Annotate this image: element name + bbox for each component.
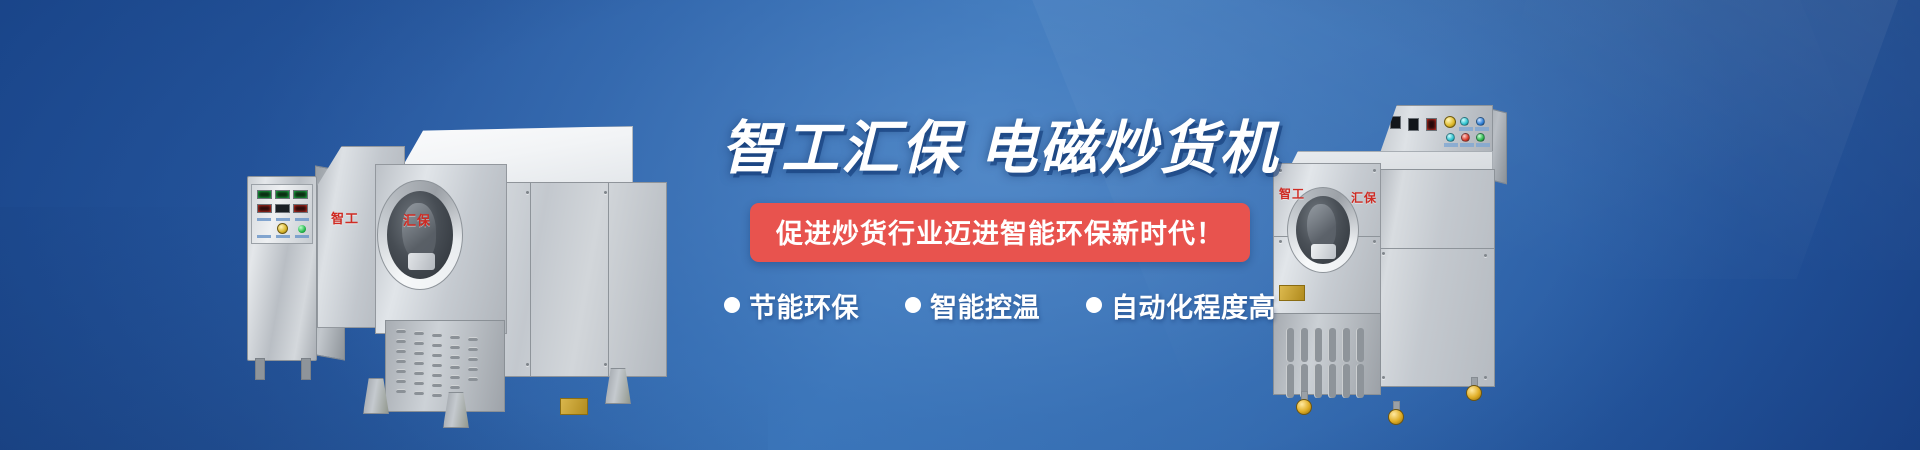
panel-screw — [1373, 240, 1376, 243]
panel-label-strip — [1444, 143, 1458, 147]
panel-label-strip — [295, 235, 309, 238]
panel-screw — [526, 363, 529, 366]
subhead-row: 促进炒货行业迈进智能环保新时代！ — [700, 203, 1300, 262]
roaster-cabinet-body — [1375, 169, 1495, 387]
spec-nameplate — [560, 398, 588, 415]
filled-circle-bullet-icon — [724, 297, 740, 313]
display-readout — [1408, 118, 1419, 131]
display-readout — [293, 204, 308, 213]
feature-label: 节能环保 — [749, 286, 859, 325]
roaster-drum-opening — [377, 180, 463, 290]
panel-label-strip — [276, 218, 290, 221]
filled-circle-bullet-icon — [905, 297, 921, 313]
panel-label-strip — [257, 235, 271, 238]
control-panel — [251, 184, 313, 244]
brand-mark-left: 智工 — [331, 208, 359, 227]
brand-mark-right: 汇保 — [1351, 189, 1377, 206]
promo-banner: 许昌智工 — [0, 0, 1920, 450]
panel-screw — [526, 191, 529, 194]
cabinet-door-seam — [530, 183, 531, 376]
panel-screw — [1373, 169, 1376, 172]
panel-label-strip — [276, 235, 290, 238]
display-readout — [293, 190, 308, 199]
panel-label-strip — [1460, 143, 1474, 147]
display-readout — [275, 190, 290, 199]
caster-wheel — [1388, 409, 1404, 425]
brand-mark-right: 汇保 — [403, 210, 431, 229]
feature-label: 自动化程度高 — [1111, 286, 1276, 325]
rotary-knob[interactable] — [1444, 116, 1456, 128]
roaster-vent-skirt — [385, 320, 505, 412]
rotary-knob[interactable] — [277, 223, 288, 234]
cabinet-seam — [1376, 248, 1494, 249]
tagline-badge: 促进炒货行业迈进智能环保新时代！ — [750, 203, 1250, 262]
control-button[interactable] — [1446, 133, 1455, 142]
feature-item: 自动化程度高 — [1086, 286, 1276, 325]
product-image-roaster-large: 许昌智工 — [225, 120, 685, 425]
control-panel — [1363, 105, 1493, 157]
control-button[interactable] — [1461, 133, 1470, 142]
display-readout — [257, 190, 272, 199]
display-readout — [275, 204, 290, 213]
panel-screw — [604, 191, 607, 194]
display-readout — [257, 204, 272, 213]
panel-screw — [1382, 252, 1385, 255]
feature-item: 节能环保 — [724, 286, 859, 325]
cabinet-foot — [255, 358, 265, 380]
roaster-vent-skirt — [1273, 313, 1381, 395]
caster-wheel — [1466, 385, 1482, 401]
drum-interior — [387, 191, 453, 279]
control-button[interactable] — [1476, 117, 1485, 126]
feature-list: 节能环保 智能控温 自动化程度高 — [700, 286, 1300, 325]
drum-contents — [408, 253, 434, 271]
panel-screw — [1382, 376, 1385, 379]
banner-text-block: 智工汇保 电磁炒货机 促进炒货行业迈进智能环保新时代！ 节能环保 智能控温 自动… — [700, 118, 1300, 325]
panel-label-strip — [257, 218, 271, 221]
display-readout — [1390, 116, 1401, 129]
control-button[interactable] — [1476, 133, 1485, 142]
caster-wheel — [1296, 399, 1312, 415]
panel-screw — [1484, 376, 1487, 379]
panel-label-strip — [1475, 127, 1489, 131]
display-readout — [1426, 118, 1437, 131]
filled-circle-bullet-icon — [1086, 297, 1102, 313]
panel-label-strip — [1476, 143, 1490, 147]
indicator-led — [298, 225, 306, 233]
product-image-roaster-compact: 智工 汇保 — [1265, 105, 1595, 430]
panel-label-strip — [1459, 127, 1473, 131]
panel-screw — [604, 363, 607, 366]
cabinet-door-seam — [608, 183, 609, 376]
page-title: 智工汇保 电磁炒货机 — [700, 118, 1300, 181]
drum-contents — [1311, 244, 1336, 259]
control-button[interactable] — [1460, 117, 1469, 126]
feature-label: 智能控温 — [930, 286, 1040, 325]
feature-item: 智能控温 — [905, 286, 1040, 325]
drum-interior — [1296, 196, 1350, 264]
panel-screw — [1484, 254, 1487, 257]
cabinet-foot — [301, 358, 311, 380]
panel-label-strip — [295, 218, 309, 221]
